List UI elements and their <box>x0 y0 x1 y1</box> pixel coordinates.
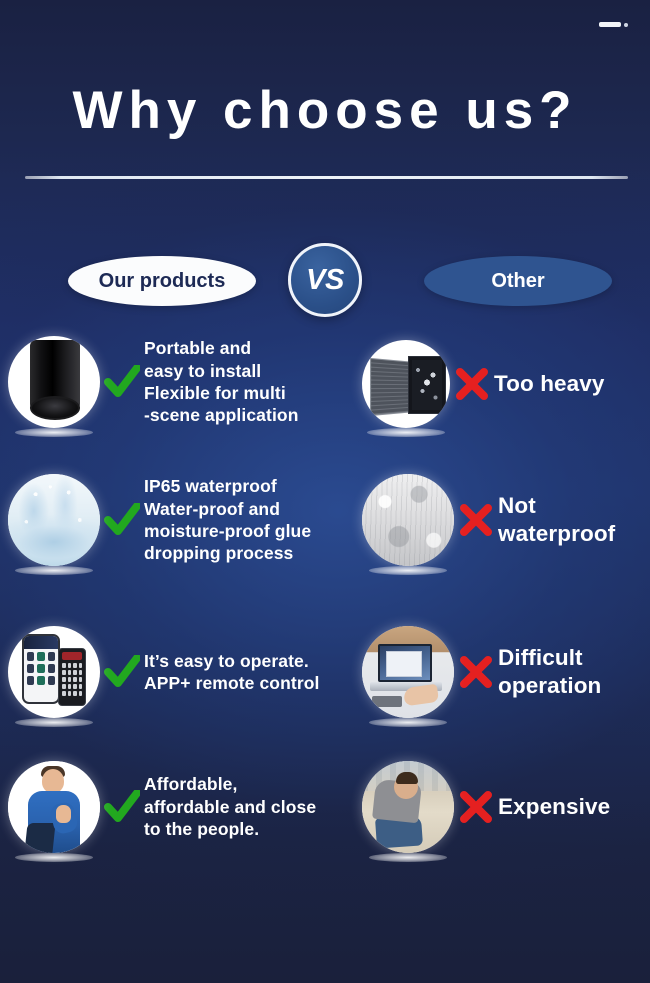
line: moisture-proof glue <box>144 520 311 542</box>
row-4-ours: Affordable, affordable and close to the … <box>8 760 358 854</box>
row-1-ours-thumb-wrap <box>8 336 100 428</box>
led-panel-art <box>362 340 450 428</box>
row-2-ours-thumb-wrap <box>8 474 100 566</box>
line: It’s easy to operate. <box>144 650 319 672</box>
row-1-other: Too heavy <box>362 338 650 430</box>
sad-man-hair <box>396 772 418 784</box>
thumb-shadow <box>369 853 447 862</box>
red-cross-icon <box>454 790 498 824</box>
line: Portable and <box>144 337 298 359</box>
row-4-ours-text: Affordable, affordable and close to the … <box>144 773 316 840</box>
row-1-ours-text: Portable and easy to install Flexible fo… <box>144 337 298 427</box>
row-1-other-thumb-wrap <box>362 340 450 428</box>
remote-control-device <box>58 648 86 706</box>
water-splash-thumbnail <box>8 474 100 566</box>
row-3-ours-thumb-wrap <box>8 626 100 718</box>
thumbs-up-hand <box>56 805 71 823</box>
laptop-screen <box>378 644 432 682</box>
line: easy to install <box>144 360 298 382</box>
thumb-shadow <box>15 566 93 575</box>
line: Difficult <box>498 644 601 672</box>
dash-dot <box>624 23 628 27</box>
man-thumbs-up-art <box>8 761 100 853</box>
line: IP65 waterproof <box>144 475 311 497</box>
line: Expensive <box>498 793 610 821</box>
led-panel-module-thumbnail <box>362 340 450 428</box>
row-2-other-thumb-wrap <box>362 474 454 566</box>
line: Water-proof and <box>144 498 311 520</box>
row-1-ours: Portable and easy to install Flexible fo… <box>8 332 358 432</box>
phone-app-and-remote-thumbnail <box>8 626 100 718</box>
other-label: Other <box>491 270 544 293</box>
line: -scene application <box>144 404 298 426</box>
water-splash-art <box>8 474 100 566</box>
row-3-ours: It’s easy to operate. APP+ remote contro… <box>8 625 358 719</box>
our-products-label: Our products <box>99 270 226 293</box>
phone-app-keys <box>27 652 55 698</box>
laptop-computer-operation-thumbnail <box>362 626 454 718</box>
phone-remote-art <box>8 626 100 718</box>
line: APP+ remote control <box>144 672 319 694</box>
row-3-other-thumb-wrap <box>362 626 454 718</box>
thumb-shadow <box>369 718 447 727</box>
line: to the people. <box>144 818 316 840</box>
row-4-other-text: Expensive <box>498 793 610 821</box>
remote-keys <box>62 663 82 702</box>
wet-gray-surface-thumbnail <box>362 474 454 566</box>
why-choose-us-infographic: Why choose us? Our products VS Other <box>0 0 650 983</box>
line: operation <box>498 672 601 700</box>
our-products-pill: Our products <box>68 256 256 306</box>
page-title: Why choose us? <box>0 84 650 137</box>
row-2-ours-text: IP65 waterproof Water-proof and moisture… <box>144 475 311 565</box>
sad-man-art <box>362 761 454 853</box>
thumb-shadow <box>15 428 93 437</box>
thumb-shadow <box>367 428 445 437</box>
man-head <box>42 769 64 793</box>
row-4-ours-thumb-wrap <box>8 761 100 853</box>
line: affordable and close <box>144 796 316 818</box>
minimize-dash-icon[interactable] <box>599 22 628 27</box>
row-3-ours-text: It’s easy to operate. APP+ remote contro… <box>144 650 319 695</box>
phone-status-bar <box>24 636 58 649</box>
sad-man-sitting-thumbnail <box>362 761 454 853</box>
other-pill: Other <box>424 256 612 306</box>
phone-device <box>22 634 60 704</box>
thumb-shadow <box>15 718 93 727</box>
vs-label: VS <box>306 264 344 297</box>
line: waterproof <box>498 520 615 548</box>
vs-badge: VS <box>288 243 362 317</box>
row-2-ours: IP65 waterproof Water-proof and moisture… <box>8 470 358 570</box>
comparison-row-2: IP65 waterproof Water-proof and moisture… <box>0 470 650 570</box>
row-3-other-text: Difficult operation <box>498 644 601 700</box>
row-4-other-thumb-wrap <box>362 761 454 853</box>
dash-bar <box>599 22 621 27</box>
gray-surface-art <box>362 474 454 566</box>
man-thumbs-up-thumbnail <box>8 761 100 853</box>
red-cross-icon <box>454 655 498 689</box>
cylinder-light-art <box>8 336 100 428</box>
title-divider <box>25 176 628 179</box>
black-cylinder-light-thumbnail <box>8 336 100 428</box>
red-cross-icon <box>454 503 498 537</box>
line: dropping process <box>144 542 311 564</box>
row-4-other: Expensive <box>362 762 650 852</box>
row-3-other: Difficult operation <box>362 627 650 717</box>
green-check-icon <box>100 503 144 537</box>
led-panel-back <box>408 356 446 414</box>
green-check-icon <box>100 655 144 689</box>
thumb-shadow <box>369 566 447 575</box>
comparison-row-1: Portable and easy to install Flexible fo… <box>0 332 650 432</box>
laptop-desk-art <box>362 626 454 718</box>
line: Not <box>498 492 615 520</box>
remote-top-panel <box>62 652 82 660</box>
led-panel-face <box>370 358 413 416</box>
red-cross-icon <box>450 367 494 401</box>
comparison-row-4: Affordable, affordable and close to the … <box>0 760 650 854</box>
row-2-other: Not waterproof <box>362 474 650 566</box>
man-dark-overall <box>24 823 55 853</box>
row-1-other-text: Too heavy <box>494 370 605 398</box>
comparison-row-3: It’s easy to operate. APP+ remote contro… <box>0 625 650 719</box>
cylinder-lens <box>30 396 80 420</box>
green-check-icon <box>100 790 144 824</box>
line: Too heavy <box>494 370 605 398</box>
green-check-icon <box>100 365 144 399</box>
line: Flexible for multi <box>144 382 298 404</box>
thumb-shadow <box>15 853 93 862</box>
line: Affordable, <box>144 773 316 795</box>
external-keyboard <box>372 696 402 707</box>
row-2-other-text: Not waterproof <box>498 492 615 548</box>
